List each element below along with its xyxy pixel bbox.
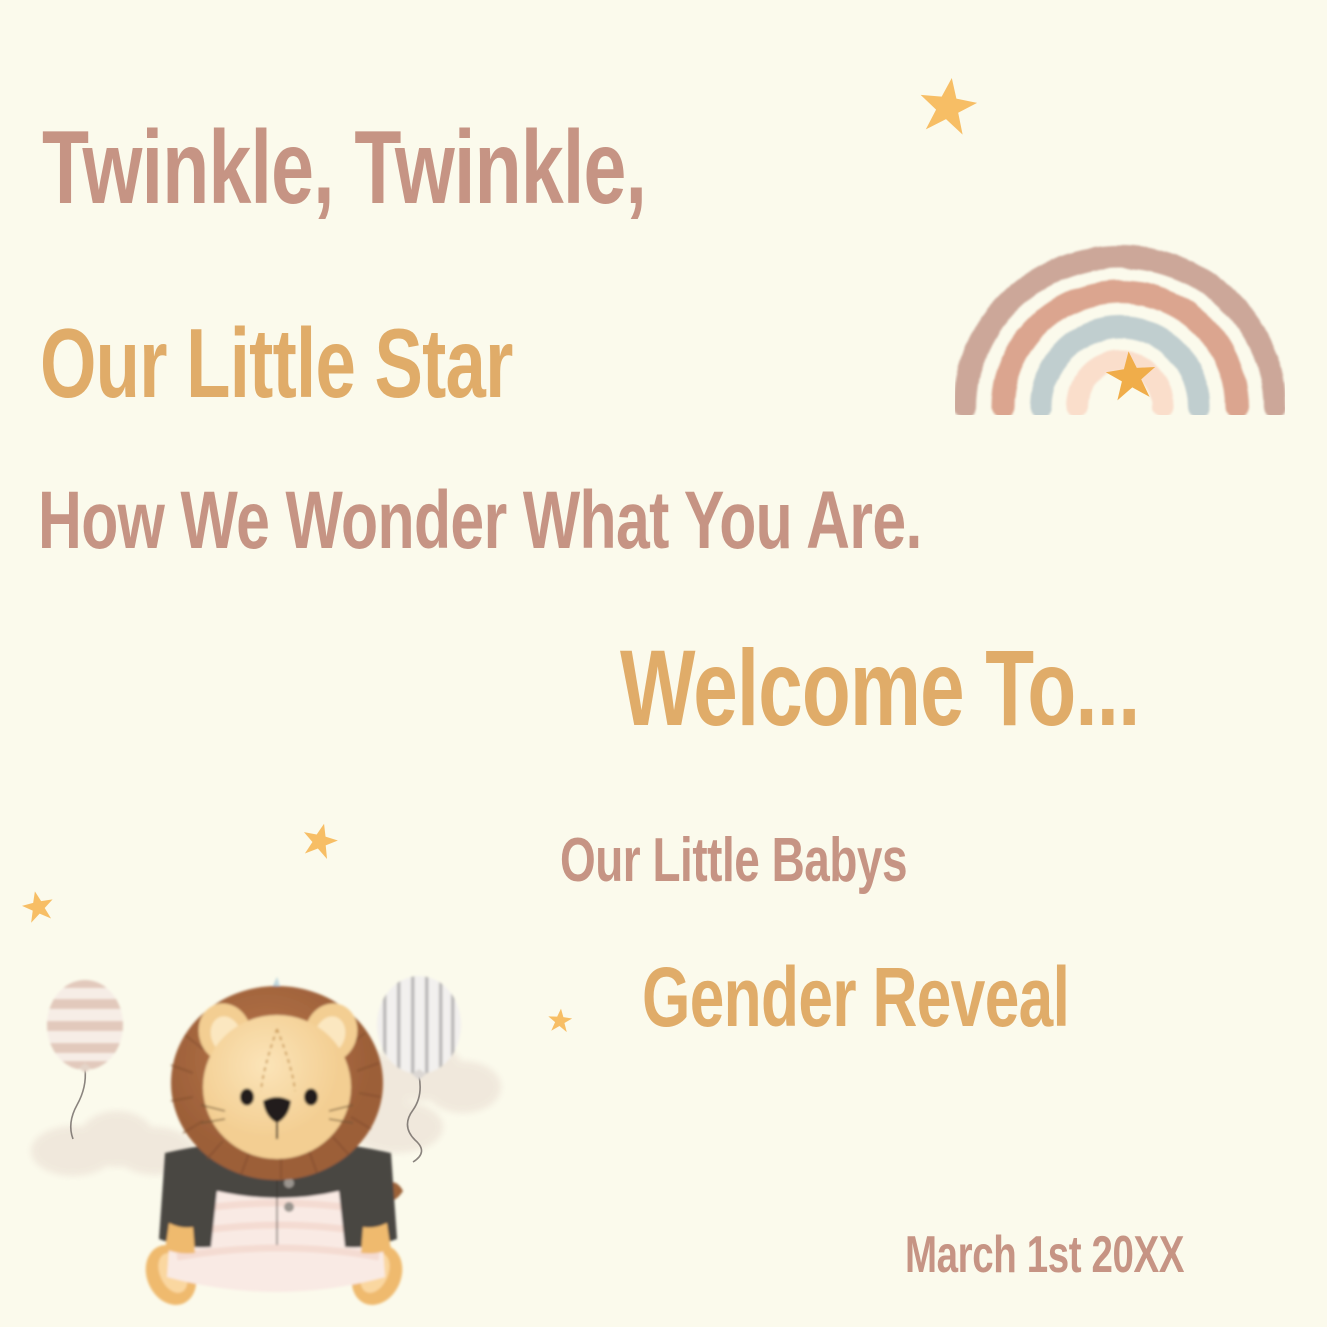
event-date: March 1st 20XX: [905, 1229, 1184, 1281]
invitation-canvas: Twinkle, Twinkle, Our Little Star How We…: [0, 0, 1327, 1327]
headline-welcome-to: Welcome To...: [620, 634, 1140, 742]
headline-our-little-star: Our Little Star: [40, 314, 513, 412]
headline-twinkle: Twinkle, Twinkle,: [42, 116, 646, 220]
star-top-right-icon: [917, 74, 979, 141]
headline-how-we-wonder: How We Wonder What You Are.: [38, 480, 922, 562]
star-near-reveal-icon: [547, 1007, 573, 1038]
star-far-left-icon: [21, 889, 55, 928]
lion-illustration: [25, 955, 535, 1325]
subtitle-gender-reveal: Gender Reveal: [642, 955, 1069, 1039]
star-mid-left-icon: [301, 821, 339, 864]
rainbow-illustration: [955, 155, 1285, 415]
subtitle-our-little-babys: Our Little Babys: [560, 830, 907, 892]
